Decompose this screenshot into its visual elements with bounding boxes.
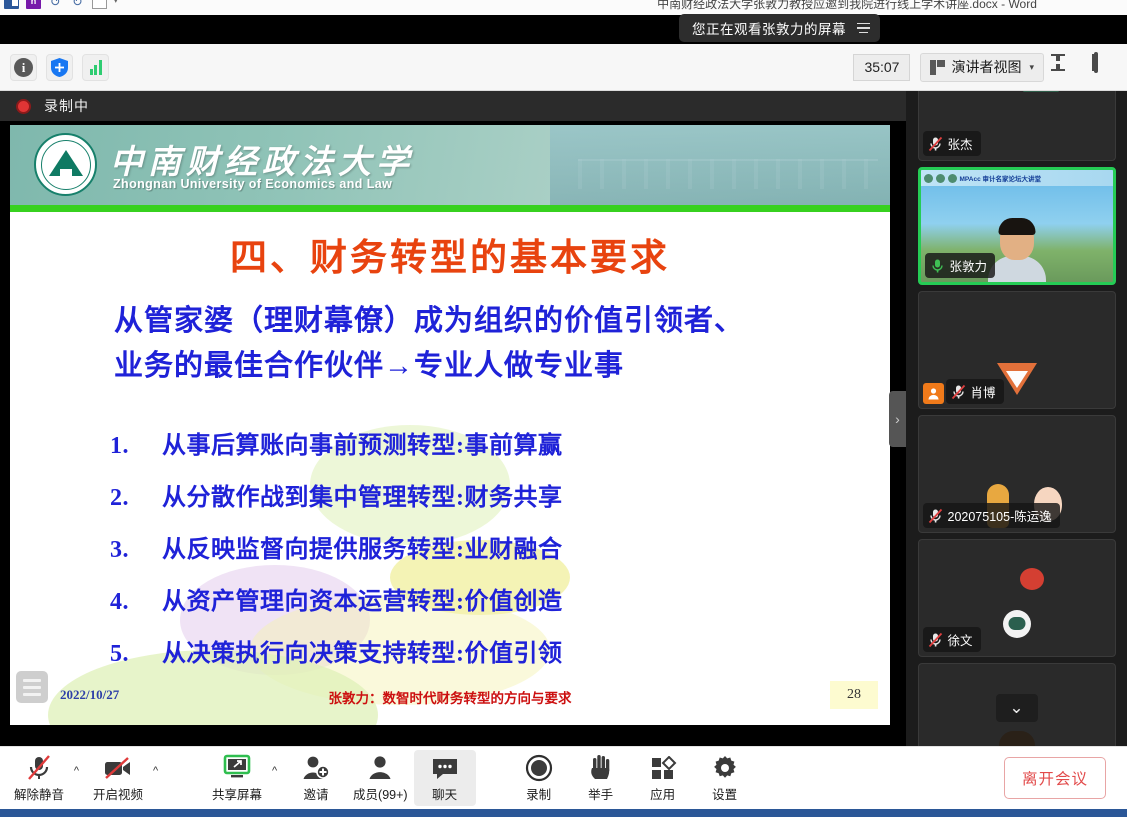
mic-muted-icon bbox=[928, 632, 943, 648]
topbar-right-controls: 35:07 演讲者视图 ▾ bbox=[853, 53, 1127, 82]
slide-footer-title: 张敦力：数智时代财务转型的方向与要求 bbox=[10, 687, 890, 707]
slide-page-number: 28 bbox=[830, 681, 878, 709]
slide-body: 四、财务转型的基本要求 从管家婆（理财幕僚）成为组织的价值引领者、 业务的最佳合… bbox=[10, 212, 890, 725]
list-item-text: 从分散作战到集中管理转型:财务共享 bbox=[162, 477, 563, 512]
meeting-window: n ↺ ↻ ▾ 中南财经政法大学张敦力教授应邀到我院进行线上学术讲座.docx … bbox=[0, 0, 1127, 817]
windows-taskbar bbox=[0, 809, 1127, 817]
redo-icon[interactable]: ↻ bbox=[70, 0, 85, 9]
background-word-window: n ↺ ↻ ▾ 中南财经政法大学张敦力教授应邀到我院进行线上学术讲座.docx … bbox=[0, 0, 1127, 15]
camera-off-icon bbox=[103, 754, 133, 782]
raise-hand-button[interactable]: 举手 bbox=[570, 750, 632, 806]
participant-name: 202075105-陈运逸 bbox=[948, 506, 1052, 525]
start-video-button[interactable]: 开启视频 bbox=[87, 750, 149, 806]
list-item-text: 从事后算账向事前预测转型:事前算赢 bbox=[162, 425, 563, 460]
caret-down-icon[interactable]: ▾ bbox=[114, 0, 129, 9]
banner-bridge-image bbox=[578, 159, 878, 189]
participant-tile[interactable]: 肖博 bbox=[918, 291, 1116, 409]
list-item: 2. 从分散作战到集中管理转型:财务共享 bbox=[110, 477, 830, 512]
screen-share-tooltip[interactable]: 您正在观看张敦力的屏幕 bbox=[679, 14, 880, 42]
list-item-number: 4. bbox=[110, 589, 136, 616]
mic-muted-icon bbox=[951, 384, 966, 400]
slide-menu-icon[interactable] bbox=[16, 671, 48, 703]
participants-button[interactable]: 成员(99+) bbox=[347, 750, 414, 806]
participant-tile[interactable]: 徐文 bbox=[918, 539, 1116, 657]
stats-bars-icon[interactable] bbox=[82, 54, 109, 81]
info-icon[interactable]: i bbox=[10, 54, 37, 81]
list-item: 5. 从决策执行向决策支持转型:价值引领 bbox=[110, 633, 830, 668]
mic-muted-icon bbox=[928, 508, 943, 524]
toolbar-group-right: 录制 举手 bbox=[508, 750, 756, 806]
toolbar-item-label: 举手 bbox=[588, 784, 613, 803]
participant-name-chip: 徐文 bbox=[923, 627, 981, 652]
chevron-down-icon[interactable]: ⌄ bbox=[996, 694, 1038, 722]
list-item-text: 从资产管理向资本运营转型:价值创造 bbox=[162, 581, 563, 616]
video-options-chevron-icon[interactable]: ^ bbox=[147, 749, 164, 793]
list-item: 3. 从反映监督向提供服务转型:业财融合 bbox=[110, 529, 830, 564]
record-icon bbox=[525, 754, 553, 782]
meeting-bottom-toolbar: 解除静音 ^ 开启视频 ^ bbox=[0, 746, 1127, 809]
chat-icon bbox=[431, 754, 459, 782]
list-item-number: 3. bbox=[110, 537, 136, 564]
toolbar-group-center: 共享屏幕 ^ 邀请 bbox=[206, 750, 476, 806]
share-screen-button[interactable]: 共享屏幕 bbox=[206, 750, 268, 806]
toolbar-item-label: 解除静音 bbox=[14, 784, 64, 803]
record-indicator-icon bbox=[16, 99, 31, 114]
video-banner-text: MPAcc 审计名家论坛大讲堂 bbox=[960, 173, 1042, 183]
audio-options-chevron-icon[interactable]: ^ bbox=[68, 749, 85, 793]
toolbar-item-label: 共享屏幕 bbox=[212, 784, 262, 803]
record-button[interactable]: 录制 bbox=[508, 750, 570, 806]
banner-chinese-name: 中南财经政法大学 bbox=[110, 135, 414, 183]
participant-name-chip: 张敦力 bbox=[925, 253, 996, 278]
gear-icon bbox=[711, 754, 739, 782]
slide-subtitle-line: 业务的最佳合作伙伴→专业人做专业事 bbox=[114, 344, 814, 389]
leave-meeting-button[interactable]: 离开会议 bbox=[1004, 757, 1106, 799]
invite-user-icon bbox=[302, 754, 330, 782]
collapse-panel-chevron-icon[interactable]: › bbox=[889, 391, 906, 447]
participants-icon bbox=[366, 754, 394, 782]
banner-english-name: Zhongnan University of Economics and Law bbox=[113, 177, 392, 191]
screen-share-tooltip-text: 您正在观看张敦力的屏幕 bbox=[692, 18, 846, 38]
list-item-number: 2. bbox=[110, 485, 136, 512]
slide-subtitle-line: 从管家婆（理财幕僚）成为组织的价值引领者、 bbox=[114, 299, 814, 344]
apps-icon bbox=[649, 754, 677, 782]
share-screen-icon bbox=[222, 754, 252, 782]
video-overlay-banner: MPAcc 审计名家论坛大讲堂 bbox=[921, 170, 1113, 186]
presentation-slide: 中南财经政法大学 Zhongnan University of Economic… bbox=[10, 125, 890, 725]
toolbar-item-label: 设置 bbox=[712, 784, 737, 803]
toolbar-item-label: 应用 bbox=[650, 784, 675, 803]
video-person-figure bbox=[988, 220, 1046, 282]
box-icon[interactable] bbox=[92, 0, 107, 9]
list-item-text: 从反映监督向提供服务转型:业财融合 bbox=[162, 529, 563, 564]
layout-icon bbox=[930, 60, 945, 75]
toolbar-group-left: 解除静音 ^ 开启视频 ^ bbox=[0, 750, 166, 806]
slide-footer: 2022/10/27 张敦力：数智时代财务转型的方向与要求 28 bbox=[10, 681, 890, 715]
list-item: 4. 从资产管理向资本运营转型:价值创造 bbox=[110, 581, 830, 616]
mic-muted-icon bbox=[26, 754, 52, 782]
participant-name-chip: 202075105-陈运逸 bbox=[923, 503, 1060, 528]
unmute-button[interactable]: 解除静音 bbox=[8, 750, 70, 806]
save-icon[interactable] bbox=[4, 0, 19, 9]
side-panel-button[interactable] bbox=[1090, 54, 1116, 80]
list-item: 1. 从事后算账向事前预测转型:事前算赢 bbox=[110, 425, 830, 460]
raise-hand-icon bbox=[588, 754, 614, 782]
share-options-chevron-icon[interactable]: ^ bbox=[266, 749, 283, 793]
toolbar-item-label: 成员(99+) bbox=[353, 784, 408, 803]
participant-rail[interactable]: 张杰 MPAcc 审计名家论坛大讲堂 张敦力 bbox=[906, 91, 1127, 746]
settings-button[interactable]: 设置 bbox=[694, 750, 756, 806]
mic-on-icon bbox=[930, 258, 945, 274]
chevron-down-icon: ▾ bbox=[1029, 62, 1034, 73]
meeting-timer: 35:07 bbox=[853, 54, 910, 81]
participant-name: 张敦力 bbox=[950, 256, 988, 275]
banner-green-rule bbox=[10, 205, 890, 212]
recording-bar: 录制中 bbox=[0, 91, 906, 121]
toolbar-item-label: 邀请 bbox=[304, 784, 329, 803]
slide-subtitle: 从管家婆（理财幕僚）成为组织的价值引领者、 业务的最佳合作伙伴→专业人做专业事 bbox=[114, 299, 814, 389]
fullscreen-button[interactable] bbox=[1054, 54, 1080, 80]
mic-muted-icon bbox=[928, 136, 943, 152]
shield-icon[interactable] bbox=[46, 54, 73, 81]
list-item-text: 从决策执行向决策支持转型:价值引领 bbox=[162, 633, 563, 668]
participant-name: 肖博 bbox=[971, 382, 996, 401]
shared-screen-area: 录制中 中南财经政法大学 Zhongnan University of Econ… bbox=[0, 91, 906, 746]
apps-button[interactable]: 应用 bbox=[632, 750, 694, 806]
toolbar-item-label: 开启视频 bbox=[93, 784, 143, 803]
view-mode-label: 演讲者视图 bbox=[951, 57, 1021, 77]
invite-button[interactable]: 邀请 bbox=[285, 750, 347, 806]
toolbar-item-label: 聊天 bbox=[432, 784, 457, 803]
participant-tile[interactable]: 202075105-陈运逸 bbox=[918, 415, 1116, 533]
view-mode-select[interactable]: 演讲者视图 ▾ bbox=[920, 53, 1044, 82]
host-badge-icon bbox=[923, 383, 944, 404]
chat-button[interactable]: 聊天 bbox=[414, 750, 476, 806]
side-panel-icon bbox=[1094, 52, 1098, 73]
participant-tile[interactable]: 张杰 bbox=[918, 91, 1116, 161]
topbar-left-icons: i bbox=[0, 54, 109, 81]
word-quick-access-toolbar: n ↺ ↻ ▾ bbox=[4, 0, 129, 9]
hamburger-icon[interactable] bbox=[852, 17, 874, 39]
undo-icon[interactable]: ↺ bbox=[48, 0, 63, 9]
participant-name: 徐文 bbox=[948, 630, 973, 649]
participant-name-chip: 张杰 bbox=[923, 131, 981, 156]
slide-title: 四、财务转型的基本要求 bbox=[10, 227, 890, 281]
list-item-number: 5. bbox=[110, 641, 136, 668]
meeting-topbar: i 35:07 演讲者视图 ▾ bbox=[0, 44, 1127, 91]
list-item-number: 1. bbox=[110, 433, 136, 460]
participant-tile-active[interactable]: MPAcc 审计名家论坛大讲堂 张敦力 bbox=[918, 167, 1116, 285]
university-logo-icon bbox=[34, 133, 97, 196]
participant-tile[interactable]: ⌄ bbox=[918, 663, 1116, 746]
slide-banner: 中南财经政法大学 Zhongnan University of Economic… bbox=[10, 125, 890, 205]
slide-bullet-list: 1. 从事后算账向事前预测转型:事前算赢 2. 从分散作战到集中管理转型:财务共… bbox=[110, 425, 830, 685]
participant-name: 张杰 bbox=[948, 134, 973, 153]
toolbar-item-label: 录制 bbox=[526, 784, 551, 803]
word-document-title: 中南财经政法大学张敦力教授应邀到我院进行线上学术讲座.docx - Word bbox=[567, 0, 1127, 12]
recording-label: 录制中 bbox=[44, 96, 89, 116]
participant-name-chip: 肖博 bbox=[946, 379, 1004, 404]
onenote-icon[interactable]: n bbox=[26, 0, 41, 9]
